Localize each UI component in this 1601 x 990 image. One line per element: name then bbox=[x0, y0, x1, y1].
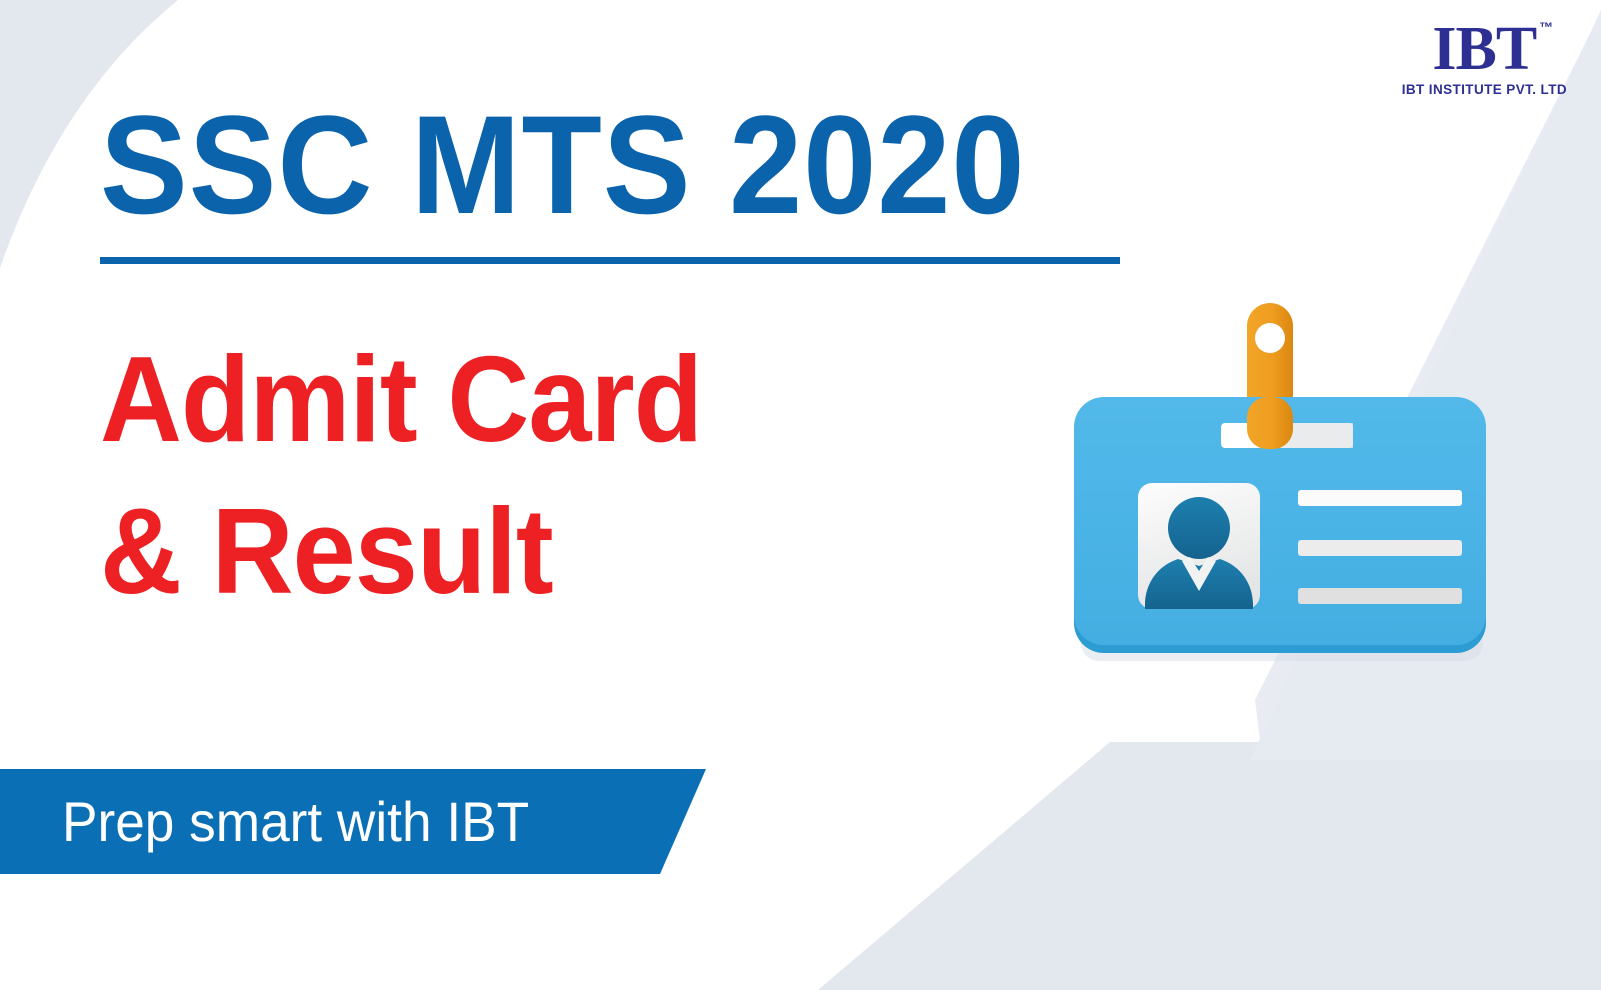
badge-clip-front bbox=[1247, 397, 1293, 449]
logo-mark-wrap: IBT ™ bbox=[1432, 18, 1536, 80]
card-detail-line-2 bbox=[1298, 540, 1462, 556]
subhead-block: Admit Card & Result bbox=[100, 338, 747, 612]
tagline-text: Prep smart with IBT bbox=[62, 789, 529, 854]
subhead-line-2: & Result bbox=[100, 490, 702, 612]
headline-block: SSC MTS 2020 bbox=[100, 95, 1160, 264]
subhead-line-1: Admit Card bbox=[100, 338, 702, 460]
card-detail-line-3 bbox=[1298, 588, 1462, 604]
brand-logo: IBT ™ IBT INSTITUTE PVT. LTD bbox=[1402, 18, 1567, 97]
right-diagonal-lower-shape bbox=[818, 742, 1601, 990]
page-title: SSC MTS 2020 bbox=[100, 95, 1096, 235]
logo-wordmark: IBT bbox=[1432, 18, 1536, 80]
tagline-ribbon: Prep smart with IBT bbox=[0, 769, 706, 874]
badge-clip-hole-icon bbox=[1255, 323, 1285, 353]
card-detail-line-1 bbox=[1298, 490, 1462, 506]
id-card-illustration bbox=[1045, 285, 1515, 685]
logo-subtitle: IBT INSTITUTE PVT. LTD bbox=[1402, 83, 1567, 97]
trademark-icon: ™ bbox=[1539, 20, 1553, 34]
poster-canvas: IBT ™ IBT INSTITUTE PVT. LTD SSC MTS 202… bbox=[0, 0, 1601, 990]
id-card-svg bbox=[1045, 285, 1515, 685]
headline-underline bbox=[100, 257, 1120, 264]
person-head-icon bbox=[1168, 497, 1230, 559]
